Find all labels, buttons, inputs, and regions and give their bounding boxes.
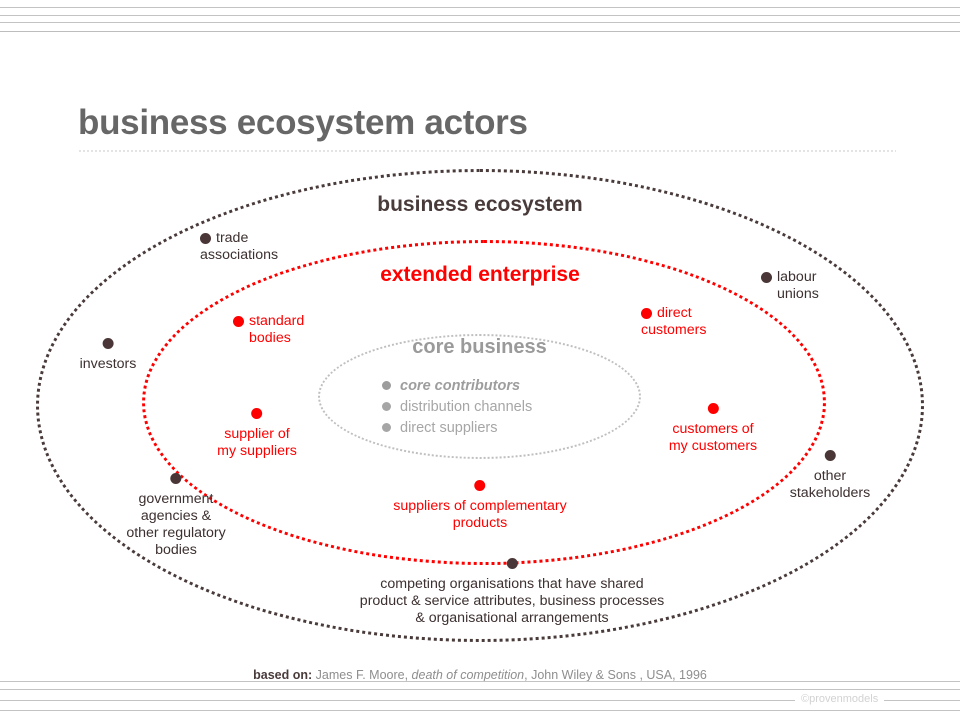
actor-standard-bodies: standard bodies xyxy=(233,313,304,347)
actor-label-line1: government xyxy=(126,491,225,508)
ring-label-business-ecosystem: business ecosystem xyxy=(0,193,960,217)
slide-canvas: business ecosystem actors business ecosy… xyxy=(0,0,960,720)
watermark: ©provenmodels xyxy=(795,693,884,705)
bullet-icon xyxy=(641,308,652,319)
bullet-icon xyxy=(233,316,244,327)
actor-competing-organisations: competing organisations that have shared… xyxy=(360,558,664,627)
actor-row: standard xyxy=(233,313,304,330)
actor-label-line1: suppliers of complementary xyxy=(393,498,566,515)
actor-bullet-row xyxy=(126,473,225,491)
actor-government-agencies: government agencies & other regulatory b… xyxy=(126,473,225,559)
actor-label-line2: agencies & xyxy=(126,508,225,525)
bullet-icon xyxy=(707,403,718,414)
actor-label-line4: bodies xyxy=(126,542,225,559)
actor-bullet-row xyxy=(790,450,870,468)
bullet-icon xyxy=(382,381,391,390)
actor-label-line2: customers xyxy=(641,322,706,339)
actor-suppliers-of-complementary-products: suppliers of complementary products xyxy=(393,480,566,532)
core-list-item-label: direct suppliers xyxy=(400,420,498,436)
bullet-icon xyxy=(382,402,391,411)
bullet-icon xyxy=(103,338,114,349)
bullet-icon xyxy=(506,558,517,569)
actor-row: direct xyxy=(641,305,706,322)
top-rule-3 xyxy=(0,22,960,23)
actor-label-line1: supplier of xyxy=(217,426,297,443)
actor-bullet-row xyxy=(393,480,566,498)
actor-label-line2: my suppliers xyxy=(217,443,297,460)
actor-label-line2: bodies xyxy=(233,330,304,347)
actor-label-line1: standard xyxy=(249,313,304,330)
actor-row: labour xyxy=(761,269,819,286)
bullet-icon xyxy=(761,272,772,283)
title-underline xyxy=(78,150,896,152)
source-work-title: death of competition xyxy=(412,668,525,682)
actor-label-line1: direct xyxy=(657,305,692,322)
actor-label-line1: investors xyxy=(80,356,137,373)
bullet-icon xyxy=(251,408,262,419)
actor-other-stakeholders: other stakeholders xyxy=(790,450,870,502)
bottom-rule-2 xyxy=(0,689,960,690)
top-rule-2 xyxy=(0,15,960,16)
bullet-icon xyxy=(474,480,485,491)
ring-label-core-business: core business xyxy=(318,336,641,359)
core-list-item-direct-suppliers: direct suppliers xyxy=(382,417,622,438)
bottom-rule-4 xyxy=(0,710,960,711)
actor-label-line2: products xyxy=(393,515,566,532)
actor-trade-associations: trade associations xyxy=(200,230,278,264)
source-lead: based on: xyxy=(253,668,312,682)
actor-bullet-row xyxy=(360,558,664,576)
core-list-item-label: core contributors xyxy=(400,378,520,394)
actor-label-line2: stakeholders xyxy=(790,485,870,502)
bullet-icon xyxy=(200,233,211,244)
actor-bullet-row xyxy=(217,408,297,426)
actor-label-line1: competing organisations that have shared xyxy=(360,576,664,593)
actor-label-line1: customers of xyxy=(669,421,757,438)
bottom-rule-1 xyxy=(0,681,960,682)
core-list-item-label: distribution channels xyxy=(400,399,532,415)
core-business-list: core contributors distribution channels … xyxy=(382,375,622,438)
actor-labour-unions: labour unions xyxy=(761,269,819,303)
actor-row: trade xyxy=(200,230,278,247)
actor-investors: investors xyxy=(80,338,137,373)
source-credit: based on: James F. Moore, death of compe… xyxy=(0,668,960,682)
bullet-icon xyxy=(171,473,182,484)
actor-label-line3: other regulatory xyxy=(126,525,225,542)
actor-bullet-row xyxy=(80,338,137,356)
actor-label-line2: unions xyxy=(761,286,819,303)
top-rule-1 xyxy=(0,7,960,8)
actor-label-line1: other xyxy=(790,468,870,485)
bullet-icon xyxy=(824,450,835,461)
actor-label-line1: trade xyxy=(216,230,248,247)
actor-customers-of-my-customers: customers of my customers xyxy=(669,403,757,455)
bullet-icon xyxy=(382,423,391,432)
actor-label-line2: my customers xyxy=(669,438,757,455)
core-list-item-core-contributors: core contributors xyxy=(382,375,622,396)
actor-label-line2: associations xyxy=(200,247,278,264)
actor-direct-customers: direct customers xyxy=(641,305,706,339)
source-author: James F. Moore, xyxy=(316,668,408,682)
top-rule-4 xyxy=(0,31,960,32)
actor-label-line1: labour xyxy=(777,269,816,286)
source-publisher: , John Wiley & Sons , USA, 1996 xyxy=(524,668,707,682)
actor-bullet-row xyxy=(669,403,757,421)
page-title: business ecosystem actors xyxy=(78,103,528,143)
actor-label-line3: & organisational arrangements xyxy=(360,610,664,627)
actor-label-line2: product & service attributes, business p… xyxy=(360,593,664,610)
core-list-item-distribution-channels: distribution channels xyxy=(382,396,622,417)
actor-supplier-of-my-suppliers: supplier of my suppliers xyxy=(217,408,297,460)
